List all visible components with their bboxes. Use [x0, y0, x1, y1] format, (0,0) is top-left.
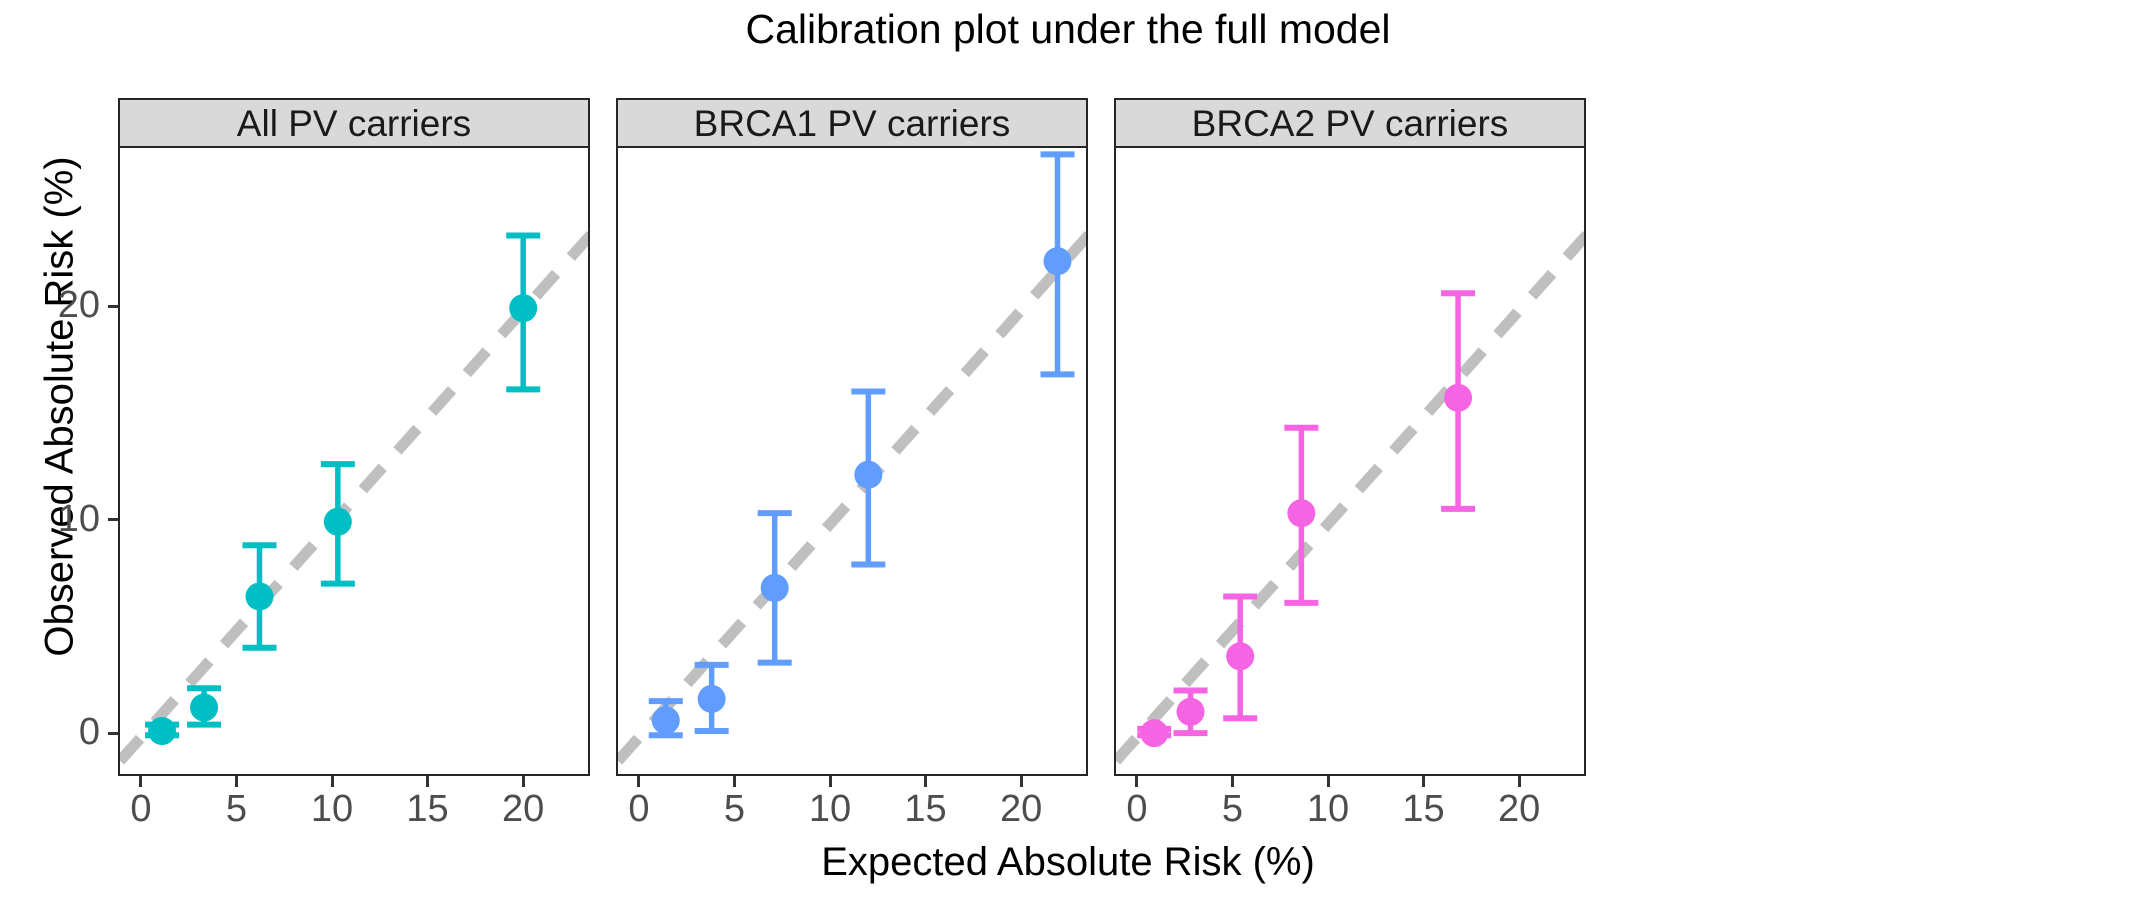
x-tick-mark [637, 776, 640, 787]
y-tick-label: 0 [0, 713, 100, 751]
data-point-group [1441, 293, 1475, 509]
x-tick-mark [924, 776, 927, 787]
x-tick-mark [331, 776, 334, 787]
data-point-group [187, 688, 221, 724]
data-point-marker [190, 694, 218, 722]
data-point-group [1137, 719, 1171, 747]
x-tick-label: 10 [1283, 790, 1373, 828]
y-axis-title: Observed Absolute Risk (%) [38, 77, 83, 737]
facet-plot-area-3 [1114, 146, 1586, 776]
data-point-marker [1226, 642, 1254, 670]
y-tick-mark [108, 732, 118, 735]
data-point-marker [854, 461, 882, 489]
x-tick-label: 0 [594, 790, 684, 828]
x-tick-mark [235, 776, 238, 787]
x-tick-mark [1135, 776, 1138, 787]
identity-reference-line [618, 233, 1088, 760]
x-tick-label: 5 [689, 790, 779, 828]
data-point-group [321, 464, 355, 584]
x-tick-label: 20 [976, 790, 1066, 828]
data-point-marker [698, 685, 726, 713]
x-axis-3: 05101520 [1114, 776, 1586, 846]
x-axis-1: 05101520 [118, 776, 590, 846]
x-tick-mark [1518, 776, 1521, 787]
facet-strip-label: All PV carriers [237, 105, 471, 142]
facet-panel-3: BRCA2 PV carriers [1114, 98, 1586, 776]
data-point-group [649, 701, 683, 735]
facet-strip-2: BRCA1 PV carriers [616, 98, 1088, 146]
data-point-marker [652, 706, 680, 734]
y-tick-label: 20 [0, 286, 100, 324]
data-point-marker [1140, 719, 1168, 747]
facet-panel-2: BRCA1 PV carriers [616, 98, 1088, 776]
x-tick-mark [139, 776, 142, 787]
x-axis-title: Expected Absolute Risk (%) [0, 840, 2136, 885]
x-tick-mark [426, 776, 429, 787]
x-axis-2: 05101520 [616, 776, 1088, 846]
x-tick-mark [1422, 776, 1425, 787]
x-tick-mark [522, 776, 525, 787]
data-point-marker [1177, 698, 1205, 726]
data-point-group [145, 717, 179, 745]
data-point-marker [1044, 247, 1072, 275]
x-tick-mark [733, 776, 736, 787]
x-tick-label: 10 [785, 790, 875, 828]
data-point-marker [245, 582, 273, 610]
y-tick-mark [108, 518, 118, 521]
facet-panel-1: All PV carriers [118, 98, 590, 776]
data-point-marker [1444, 384, 1472, 412]
data-point-marker [324, 508, 352, 536]
y-tick-mark [108, 305, 118, 308]
facet-plot-area-2 [616, 146, 1088, 776]
facet-strip-3: BRCA2 PV carriers [1114, 98, 1586, 146]
x-tick-label: 20 [1474, 790, 1564, 828]
data-point-group [242, 545, 276, 648]
y-tick-label: 10 [0, 500, 100, 538]
data-point-marker [1287, 499, 1315, 527]
x-tick-mark [829, 776, 832, 787]
x-tick-mark [1231, 776, 1234, 787]
data-point-group [1223, 596, 1257, 718]
x-tick-label: 20 [478, 790, 568, 828]
x-tick-label: 10 [287, 790, 377, 828]
x-tick-label: 15 [1379, 790, 1469, 828]
data-point-group [1041, 154, 1075, 374]
data-point-group [1284, 428, 1318, 603]
data-point-marker [509, 294, 537, 322]
facet-strip-label: BRCA2 PV carriers [1192, 105, 1509, 142]
calibration-plot-figure: Calibration plot under the full model Ob… [0, 0, 2136, 902]
data-point-group [506, 236, 540, 390]
x-tick-mark [1327, 776, 1330, 787]
x-tick-mark [1020, 776, 1023, 787]
data-point-group [758, 513, 792, 662]
data-point-group [1174, 690, 1208, 733]
identity-reference-line [1116, 233, 1586, 760]
x-tick-label: 15 [881, 790, 971, 828]
x-tick-label: 0 [1092, 790, 1182, 828]
x-tick-label: 5 [1187, 790, 1277, 828]
x-tick-label: 0 [96, 790, 186, 828]
x-tick-label: 5 [191, 790, 281, 828]
x-tick-label: 15 [383, 790, 473, 828]
facet-plot-area-1 [118, 146, 590, 776]
facet-strip-label: BRCA1 PV carriers [694, 105, 1011, 142]
data-point-group [851, 391, 885, 564]
plot-title: Calibration plot under the full model [0, 6, 2136, 53]
facet-strip-1: All PV carriers [118, 98, 590, 146]
data-point-marker [148, 717, 176, 745]
data-point-marker [761, 574, 789, 602]
